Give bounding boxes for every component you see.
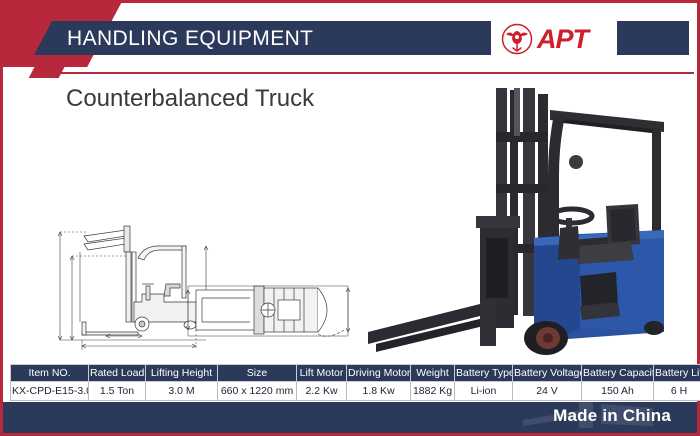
cell-battery-life: 6 H xyxy=(654,382,700,401)
product-photo xyxy=(368,88,674,360)
footer-text: Made in China xyxy=(553,406,671,426)
header-title: HANDLING EQUIPMENT xyxy=(67,25,487,53)
specification-table: Item NO. Rated Load Lifting Height Size … xyxy=(10,364,700,401)
footer-banner: Made in China xyxy=(3,402,697,433)
header-red-underline xyxy=(54,72,694,74)
cell-lift-motor: 2.2 Kw xyxy=(297,382,347,401)
column-header-lift-motor: Lift Motor xyxy=(297,365,347,382)
cell-battery-voltage: 24 V xyxy=(513,382,582,401)
product-spec-sheet: HANDLING EQUIPMENT APT Counterbalanced T… xyxy=(0,0,700,436)
cell-battery-capacity: 150 Ah xyxy=(582,382,654,401)
apt-logo: APT xyxy=(501,22,621,56)
cell-item-no: KX-CPD-E15-3.0 xyxy=(11,382,89,401)
bull-head-emblem-icon xyxy=(501,23,533,55)
cell-driving-motor: 1.8 Kw xyxy=(347,382,411,401)
column-header-battery-life: Battery Life xyxy=(654,365,700,382)
column-header-driving-motor: Driving Motor xyxy=(347,365,411,382)
column-header-weight: Weight xyxy=(411,365,455,382)
header-navy-accent-right xyxy=(617,21,689,55)
apt-logo-text: APT xyxy=(537,26,588,53)
product-title: Counterbalanced Truck xyxy=(66,85,314,113)
table-header-row: Item NO. Rated Load Lifting Height Size … xyxy=(11,365,700,382)
cell-lifting-height: 3.0 M xyxy=(146,382,218,401)
column-header-battery-capacity: Battery Capacity xyxy=(582,365,654,382)
cell-rated-load: 1.5 Ton xyxy=(89,382,146,401)
column-header-rated-load: Rated Load xyxy=(89,365,146,382)
column-header-battery-type: Battery Type xyxy=(455,365,513,382)
technical-drawings xyxy=(46,222,366,354)
cell-weight: 1882 Kg xyxy=(411,382,455,401)
column-header-item-no: Item NO. xyxy=(11,365,89,382)
column-header-size: Size xyxy=(218,365,297,382)
column-header-battery-voltage: Battery Voltage xyxy=(513,365,582,382)
table-row: KX-CPD-E15-3.0 1.5 Ton 3.0 M 660 x 1220 … xyxy=(11,382,700,401)
column-header-lifting-height: Lifting Height xyxy=(146,365,218,382)
header-banner: HANDLING EQUIPMENT APT xyxy=(3,3,697,67)
cell-battery-type: Li-ion xyxy=(455,382,513,401)
cell-size: 660 x 1220 mm xyxy=(218,382,297,401)
